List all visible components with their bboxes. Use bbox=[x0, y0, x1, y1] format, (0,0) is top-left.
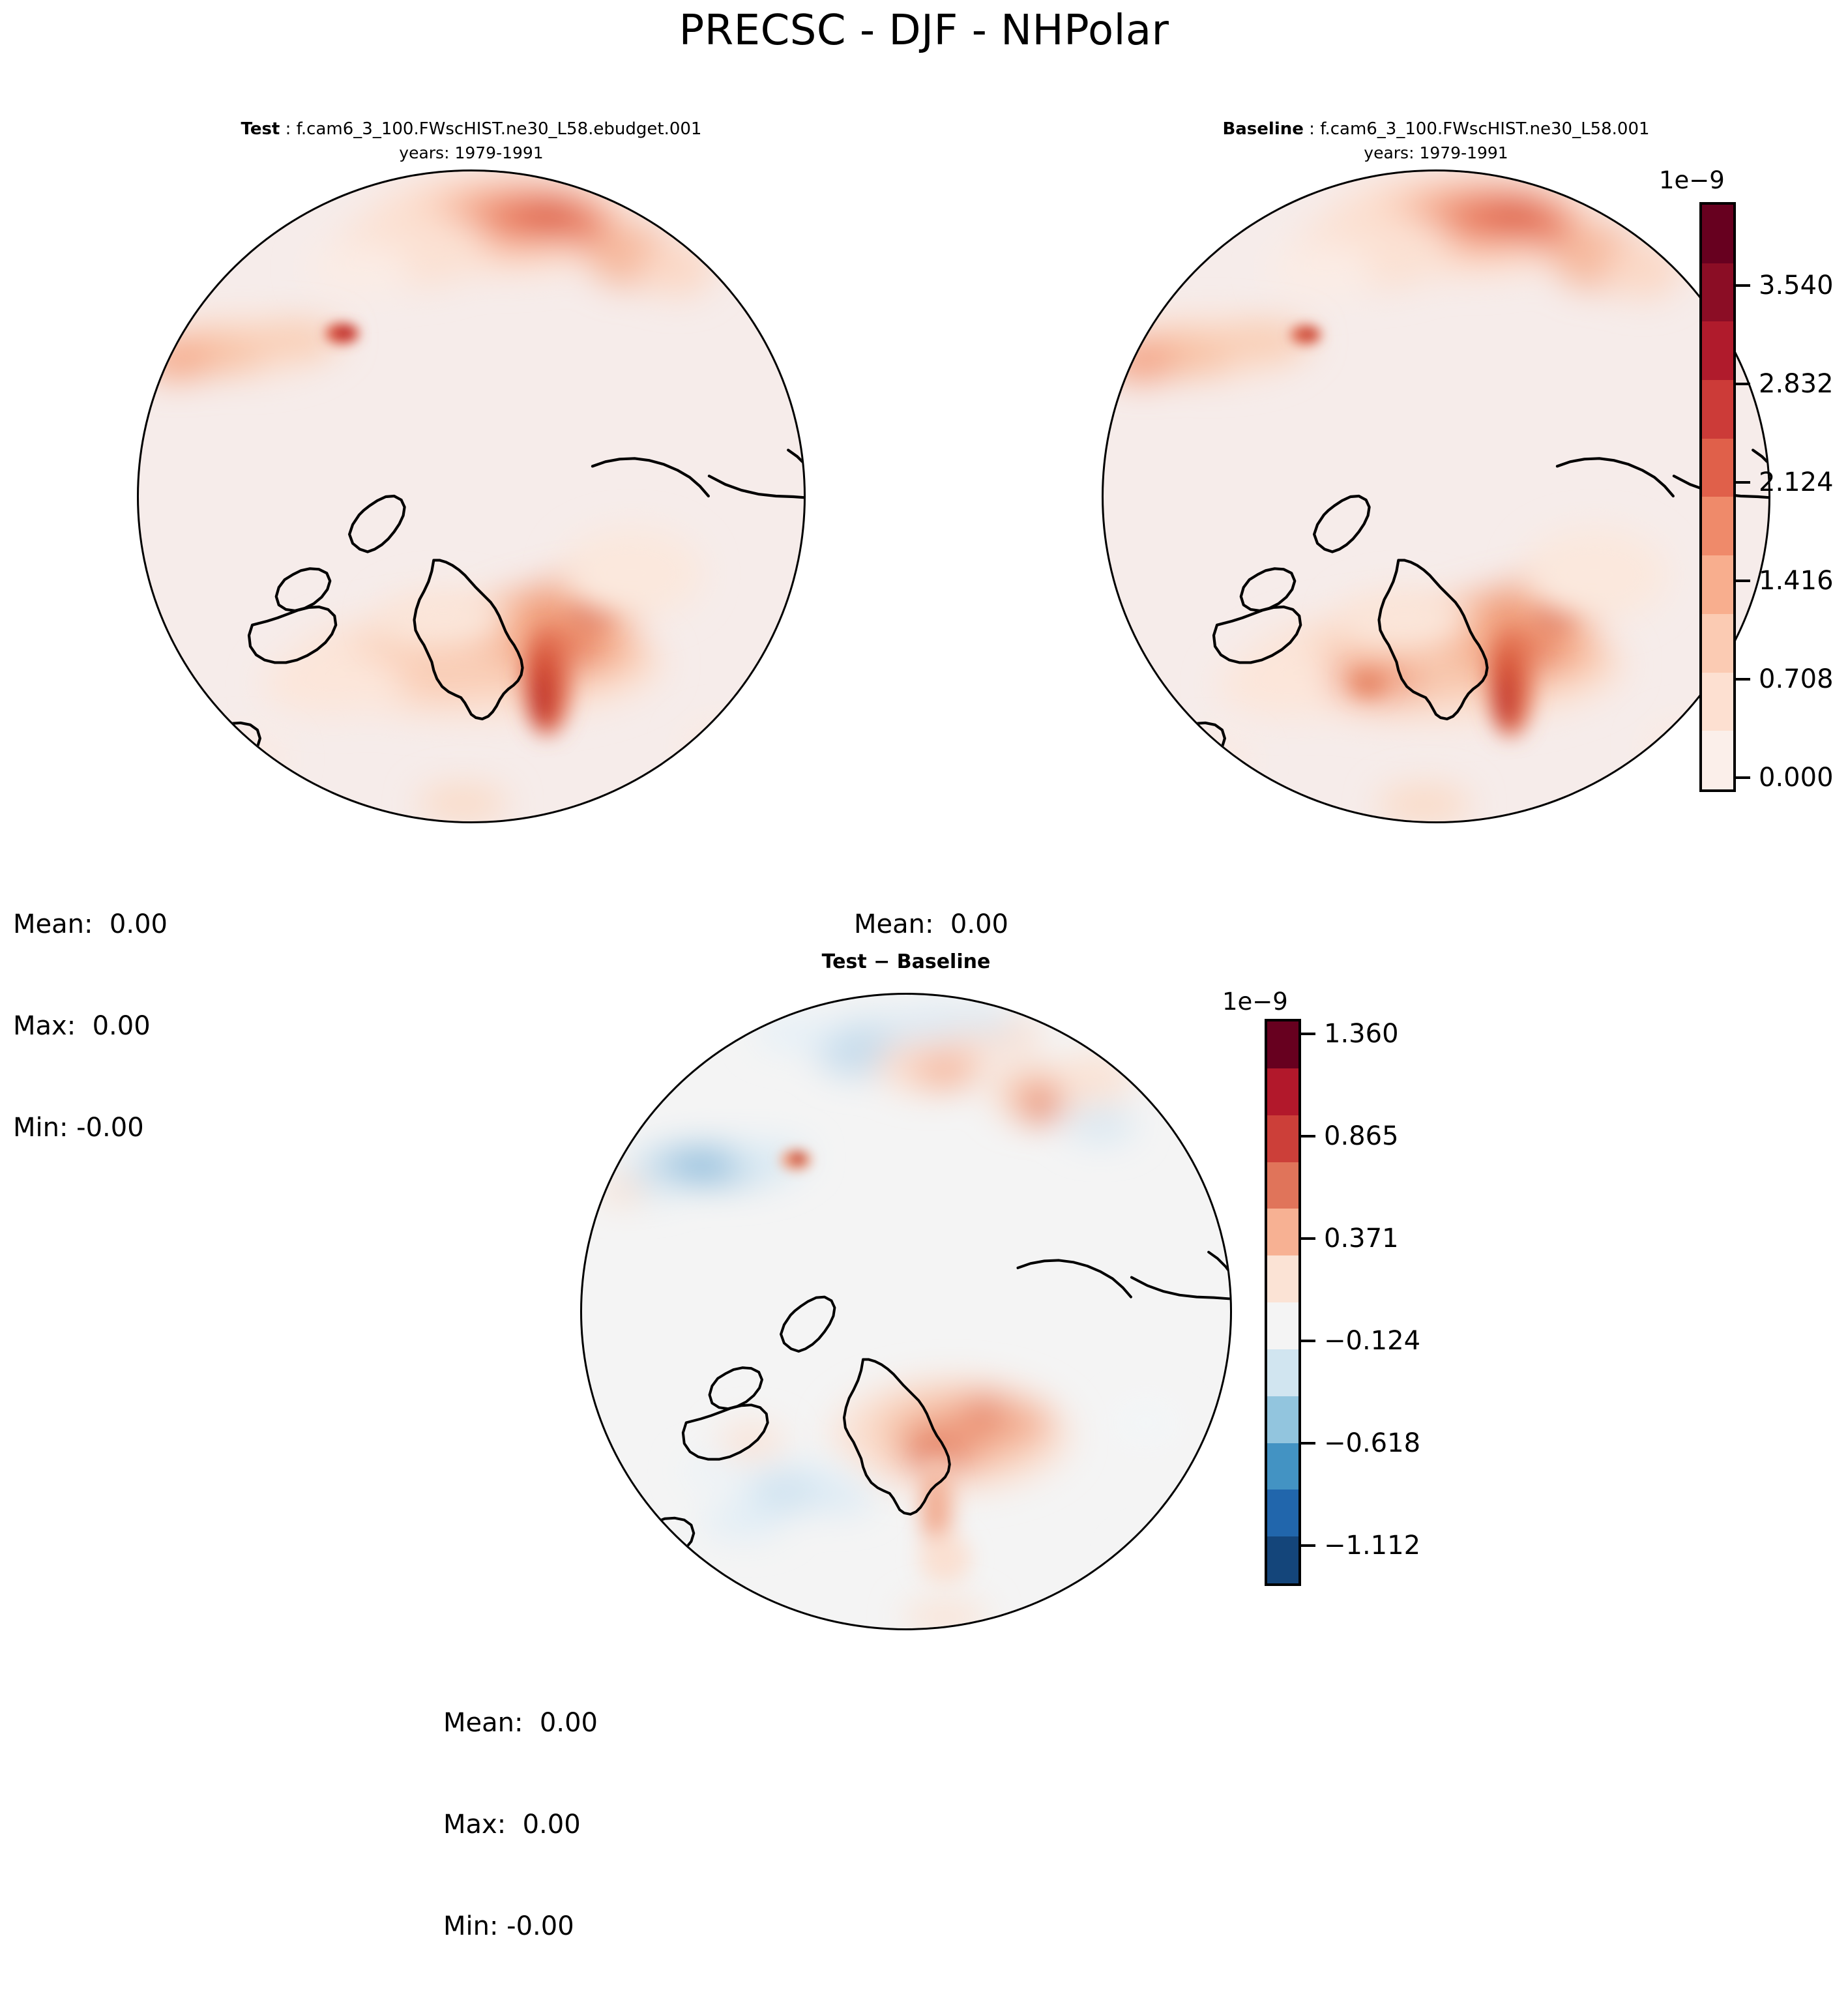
map-difference[interactable] bbox=[580, 993, 1232, 1630]
colorbar-main-tick-label-3: 1.416 bbox=[1759, 566, 1834, 596]
colorbar-main-tick-label-5: 0.000 bbox=[1759, 763, 1834, 793]
tick-dash-icon bbox=[1736, 580, 1750, 582]
colorbar-main-tick-0: 3.540 bbox=[1736, 271, 1834, 301]
panel-test-title-sep: : bbox=[280, 119, 296, 139]
stats-difference-min-label: Min: bbox=[443, 1911, 506, 1941]
stats-difference-max-value: 0.00 bbox=[514, 1810, 581, 1840]
panel-test-title-prefix: Test bbox=[241, 119, 280, 139]
stats-difference-mean-value: 0.00 bbox=[531, 1708, 598, 1738]
colorbar-main-tick-label-2: 2.124 bbox=[1759, 467, 1834, 497]
stats-difference-mean: Mean: 0.00 bbox=[443, 1706, 598, 1740]
tick-dash-icon bbox=[1301, 1544, 1315, 1547]
stats-test-min-label: Min: bbox=[13, 1113, 76, 1143]
panel-baseline-title-sep: : bbox=[1304, 119, 1320, 139]
stats-test-max: Max: 0.00 bbox=[13, 1009, 168, 1043]
colorbar-diff: 1e−9 1.360 0.865 0.371 −0.124 −0.618 bbox=[1216, 988, 1431, 1600]
colorbar-diff-tick-label-0: 1.360 bbox=[1324, 1019, 1399, 1049]
colorbar-main-tick-5: 0.000 bbox=[1736, 763, 1834, 793]
colorbar-main-tick-4: 0.708 bbox=[1736, 664, 1834, 694]
stats-test-max-label: Max: bbox=[13, 1011, 84, 1041]
stats-difference-max-label: Max: bbox=[443, 1810, 514, 1840]
shading-field-difference bbox=[599, 1006, 1193, 1628]
colorbar-diff-tick-label-2: 0.371 bbox=[1324, 1224, 1399, 1254]
colorbar-diff-tick-5: −1.112 bbox=[1301, 1531, 1420, 1561]
tick-dash-icon bbox=[1736, 776, 1750, 779]
panel-baseline-case-name: f.cam6_3_100.FWscHIST.ne30_L58.001 bbox=[1320, 119, 1649, 139]
colorbar-main-tick-2: 2.124 bbox=[1736, 467, 1834, 497]
colorbar-main-tick-1: 2.832 bbox=[1736, 369, 1834, 399]
colorbar-diff-tick-2: 0.371 bbox=[1301, 1224, 1399, 1254]
map-test[interactable] bbox=[137, 169, 806, 823]
stats-baseline-mean-label: Mean: bbox=[854, 909, 942, 939]
colorbar-diff-ticks: 1.360 0.865 0.371 −0.124 −0.618 −1.112 bbox=[1301, 1019, 1431, 1586]
tick-dash-icon bbox=[1301, 1442, 1315, 1445]
stats-difference-min-value: -0.00 bbox=[506, 1911, 574, 1941]
stats-test: Mean: 0.00 Max: 0.00 Min: -0.00 bbox=[13, 840, 168, 1212]
stats-test-mean: Mean: 0.00 bbox=[13, 907, 168, 941]
colorbar-diff-tick-label-1: 0.865 bbox=[1324, 1121, 1399, 1151]
colorbar-main-tick-label-4: 0.708 bbox=[1759, 664, 1834, 694]
page-title: PRECSC - DJF - NHPolar bbox=[0, 7, 1848, 55]
colorbar-main-offset-label: 1e−9 bbox=[1659, 166, 1725, 194]
stats-test-mean-label: Mean: bbox=[13, 909, 101, 939]
panel-difference: Test − Baseline bbox=[580, 948, 1232, 1737]
stats-difference: Mean: 0.00 Max: 0.00 Min: -0.00 bbox=[443, 1638, 598, 2011]
panel-test-years: years: 1979-1991 bbox=[137, 141, 806, 165]
panel-test: Test : f.cam6_3_100.FWscHIST.ne30_L58.eb… bbox=[137, 117, 806, 834]
tick-dash-icon bbox=[1736, 481, 1750, 484]
panel-test-case-name: f.cam6_3_100.FWscHIST.ne30_L58.ebudget.0… bbox=[297, 119, 702, 139]
panel-baseline-title: Baseline : f.cam6_3_100.FWscHIST.ne30_L5… bbox=[1102, 117, 1770, 164]
colorbar-diff-tick-3: −0.124 bbox=[1301, 1326, 1420, 1356]
tick-dash-icon bbox=[1736, 284, 1750, 287]
colorbar-diff-tick-label-4: −0.618 bbox=[1324, 1428, 1420, 1458]
colorbar-diff-tick-4: −0.618 bbox=[1301, 1428, 1420, 1458]
tick-dash-icon bbox=[1301, 1033, 1315, 1035]
stats-baseline-mean-value: 0.00 bbox=[942, 909, 1008, 939]
colorbar-main-tick-label-0: 3.540 bbox=[1759, 271, 1834, 301]
tick-dash-icon bbox=[1301, 1237, 1315, 1240]
panel-difference-title-text: Test − Baseline bbox=[822, 950, 991, 973]
colorbar-main-ticks: 3.540 2.832 2.124 1.416 0.708 0.000 bbox=[1736, 202, 1847, 792]
colorbar-main-tick-3: 1.416 bbox=[1736, 566, 1834, 596]
colorbar-main: 1e−9 3.540 2.832 2.124 1.416 0.708 bbox=[1643, 166, 1848, 825]
panel-baseline-years: years: 1979-1991 bbox=[1102, 141, 1770, 165]
colorbar-main-gradient[interactable] bbox=[1699, 202, 1736, 792]
panel-baseline-title-prefix: Baseline bbox=[1222, 119, 1303, 139]
colorbar-diff-gradient[interactable] bbox=[1265, 1019, 1301, 1586]
colorbar-diff-tick-label-3: −0.124 bbox=[1324, 1326, 1420, 1356]
stats-test-mean-value: 0.00 bbox=[101, 909, 168, 939]
stats-test-min: Min: -0.00 bbox=[13, 1111, 168, 1145]
stats-baseline-mean: Mean: 0.00 bbox=[854, 907, 1008, 941]
tick-dash-icon bbox=[1301, 1135, 1315, 1138]
stats-difference-max: Max: 0.00 bbox=[443, 1808, 598, 1842]
tick-dash-icon bbox=[1736, 383, 1750, 385]
stats-test-min-value: -0.00 bbox=[76, 1113, 144, 1143]
colorbar-diff-tick-label-5: −1.112 bbox=[1324, 1531, 1420, 1561]
tick-dash-icon bbox=[1301, 1340, 1315, 1342]
stats-difference-mean-label: Mean: bbox=[443, 1708, 531, 1738]
panel-difference-title: Test − Baseline bbox=[580, 948, 1232, 976]
stats-difference-min: Min: -0.00 bbox=[443, 1909, 598, 1943]
stats-test-max-value: 0.00 bbox=[84, 1011, 151, 1041]
colorbar-main-tick-label-1: 2.832 bbox=[1759, 369, 1834, 399]
panel-test-title: Test : f.cam6_3_100.FWscHIST.ne30_L58.eb… bbox=[137, 117, 806, 164]
tick-dash-icon bbox=[1736, 678, 1750, 681]
colorbar-diff-offset-label: 1e−9 bbox=[1222, 988, 1288, 1016]
colorbar-diff-tick-1: 0.865 bbox=[1301, 1121, 1399, 1151]
colorbar-diff-tick-0: 1.360 bbox=[1301, 1019, 1399, 1049]
